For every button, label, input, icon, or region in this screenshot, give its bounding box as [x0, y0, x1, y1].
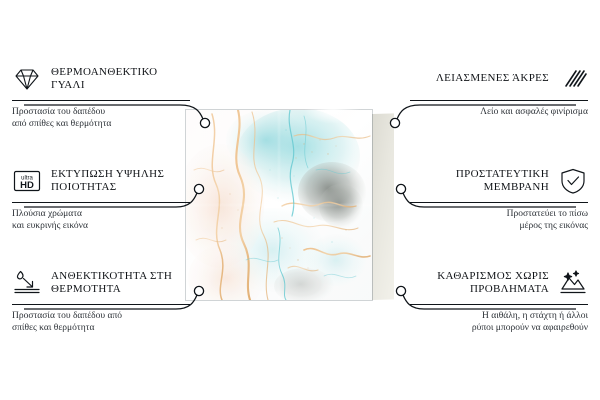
diamond-icon	[12, 64, 42, 94]
desc-line-1: Προστασία του δαπέδου	[12, 106, 190, 118]
ultra-hd-icon-bottom-text: HD	[20, 180, 34, 191]
connector-node-right-2	[396, 184, 405, 193]
divider	[410, 304, 588, 305]
feature-description: Προστασία του δαπέδου από σπίθες και θερ…	[12, 106, 190, 130]
connector-node-right-3	[396, 286, 405, 295]
desc-line-1: Προστασία του δαπέδου από	[12, 310, 190, 322]
feature-title: ΕΚΤΥΠΩΣΗ ΥΨΗΛΗΣ ΠΟΙΟΤΗΤΑΣ	[51, 168, 190, 195]
feature-title: ΠΡΟΣΤΑΤΕΥΤΙΚΗ ΜΕΜΒΡΑΝΗ	[410, 168, 549, 195]
desc-line-1: Πλούσια χρώματα	[12, 208, 190, 220]
infographic-canvas: ΘΕΡΜΟΑΝΘΕΚΤΙΚΟ ΓΥΑΛΙ Προστασία του δαπέδ…	[0, 0, 600, 400]
feature-title: ΚΑΘΑΡΙΣΜΟΣ ΧΩΡΙΣ ΠΡΟΒΛΗΜΑΤΑ	[410, 270, 549, 297]
ultra-hd-icon: ultra HD	[12, 166, 42, 196]
divider	[12, 202, 190, 203]
feature-description: Προστατεύει το πίσω μέρος της εικόνας	[410, 208, 588, 232]
divider	[410, 100, 588, 101]
feature-description: Η αιθάλη, η στάχτη ή άλλοι ρύποι μπορούν…	[410, 310, 588, 334]
desc-line-2: ρύποι μπορούν να αφαιρεθούν	[410, 322, 588, 334]
feature-description: Προστασία του δαπέδου από σπίθες και θερ…	[12, 310, 190, 334]
desc-line-1: Λείο και ασφαλές φινίρισμα	[410, 106, 588, 118]
desc-line-1: Προστατεύει το πίσω	[410, 208, 588, 220]
heat-resistance-icon	[12, 268, 42, 298]
divider	[12, 304, 190, 305]
shield-check-icon	[558, 166, 588, 196]
feature-header: ΛΕΙΑΣΜΕΝΕΣ ΆΚΡΕΣ	[410, 62, 588, 96]
desc-line-2: μέρος της εικόνας	[410, 220, 588, 232]
glass-side-panel	[372, 113, 394, 300]
feature-title: ΘΕΡΜΟΑΝΘΕΚΤΙΚΟ ΓΥΑΛΙ	[51, 66, 190, 93]
feature-polished-edges: ΛΕΙΑΣΜΕΝΕΣ ΆΚΡΕΣ Λείο και ασφαλές φινίρι…	[410, 62, 588, 118]
feature-protective-membrane: ΠΡΟΣΤΑΤΕΥΤΙΚΗ ΜΕΜΒΡΑΝΗ Προστατεύει το πί…	[410, 164, 588, 232]
feature-description: Πλούσια χρώματα και ευκρινής εικόνα	[12, 208, 190, 232]
feature-header: ΘΕΡΜΟΑΝΘΕΚΤΙΚΟ ΓΥΑΛΙ	[12, 62, 190, 96]
feature-heat-resistant-glass: ΘΕΡΜΟΑΝΘΕΚΤΙΚΟ ΓΥΑΛΙ Προστασία του δαπέδ…	[12, 62, 190, 130]
feature-header: ΚΑΘΑΡΙΣΜΟΣ ΧΩΡΙΣ ΠΡΟΒΛΗΜΑΤΑ	[410, 266, 588, 300]
desc-line-2: από σπίθες και θερμότητα	[12, 118, 190, 130]
divider	[410, 202, 588, 203]
feature-header: ΠΡΟΣΤΑΤΕΥΤΙΚΗ ΜΕΜΒΡΑΝΗ	[410, 164, 588, 198]
marble-pattern-artwork	[186, 110, 372, 300]
feature-description: Λείο και ασφαλές φινίρισμα	[410, 106, 588, 118]
product-image	[186, 110, 382, 300]
polished-edges-icon	[558, 64, 588, 94]
easy-clean-sparkle-icon	[558, 268, 588, 298]
feature-high-quality-print: ultra HD ΕΚΤΥΠΩΣΗ ΥΨΗΛΗΣ ΠΟΙΟΤΗΤΑΣ Πλούσ…	[12, 164, 190, 232]
feature-header: ΑΝΘΕΚΤΙΚΟΤΗΤΑ ΣΤΗ ΘΕΡΜΟΤΗΤΑ	[12, 266, 190, 300]
feature-easy-cleaning: ΚΑΘΑΡΙΣΜΟΣ ΧΩΡΙΣ ΠΡΟΒΛΗΜΑΤΑ Η αιθάλη, η …	[410, 266, 588, 334]
divider	[12, 100, 190, 101]
feature-heat-resistance: ΑΝΘΕΚΤΙΚΟΤΗΤΑ ΣΤΗ ΘΕΡΜΟΤΗΤΑ Προστασία το…	[12, 266, 190, 334]
glass-panel	[186, 110, 372, 300]
desc-line-2: και ευκρινής εικόνα	[12, 220, 190, 232]
desc-line-2: σπίθες και θερμότητα	[12, 322, 190, 334]
desc-line-1: Η αιθάλη, η στάχτη ή άλλοι	[410, 310, 588, 322]
feature-header: ultra HD ΕΚΤΥΠΩΣΗ ΥΨΗΛΗΣ ΠΟΙΟΤΗΤΑΣ	[12, 164, 190, 198]
feature-title: ΛΕΙΑΣΜΕΝΕΣ ΆΚΡΕΣ	[436, 72, 549, 86]
feature-title: ΑΝΘΕΚΤΙΚΟΤΗΤΑ ΣΤΗ ΘΕΡΜΟΤΗΤΑ	[51, 270, 190, 297]
